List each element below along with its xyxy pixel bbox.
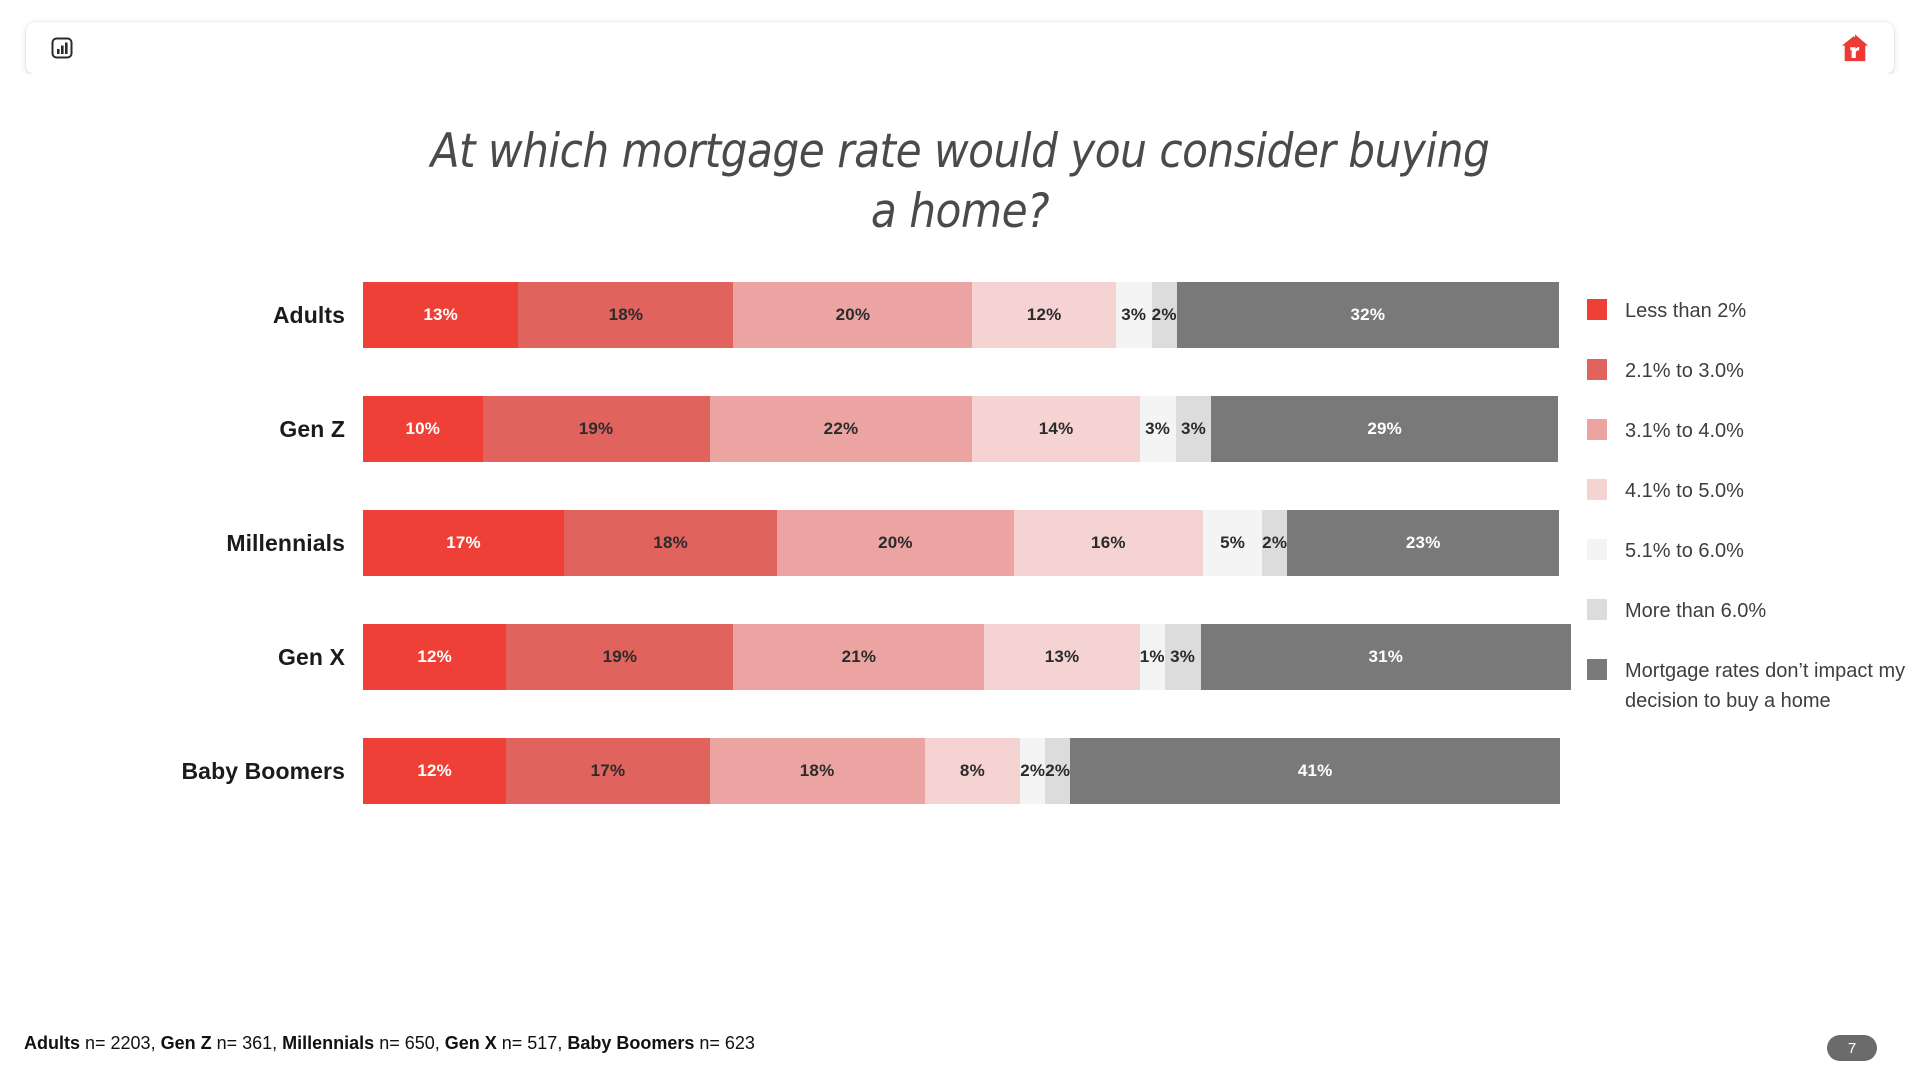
bar-segment-value: 2% [1262,533,1287,553]
bar-segment-value: 20% [836,305,871,325]
bar-segment[interactable]: 5% [1203,510,1262,576]
bar-segment-value: 3% [1145,419,1170,439]
bar-category-label: Gen X [60,624,345,690]
bar-category-label: Baby Boomers [60,738,345,804]
slide-canvas: At which mortgage rate would you conside… [0,74,1920,1081]
bar-segment-value: 2% [1152,305,1177,325]
bar-chart-icon[interactable] [50,36,74,60]
bar-segment[interactable]: 21% [733,624,984,690]
footnote-group-label: Baby Boomers [567,1033,694,1053]
bar-segment-value: 18% [609,305,644,325]
bar-segment[interactable]: 3% [1165,624,1201,690]
bar-segment[interactable]: 13% [984,624,1139,690]
bar-segment[interactable]: 13% [363,282,518,348]
footnote-group-label: Gen Z [161,1033,212,1053]
footnote-group-value: n= 517, [497,1033,568,1053]
legend-label: 2.1% to 3.0% [1625,356,1744,386]
bar-segment[interactable]: 3% [1116,282,1152,348]
bar-segment-value: 10% [405,419,440,439]
bar-segment-value: 12% [1027,305,1062,325]
bar-segment-value: 12% [417,647,452,667]
bar-track: 10%19%22%14%3%3%29% [363,396,1558,462]
bar-segment-value: 13% [423,305,458,325]
footnote-group-value: n= 623 [694,1033,755,1053]
bar-segment[interactable]: 12% [972,282,1115,348]
bar-segment[interactable]: 1% [1140,624,1165,690]
bar-segment-value: 31% [1368,647,1403,667]
bar-segment-value: 2% [1045,761,1070,781]
legend-label: 5.1% to 6.0% [1625,536,1744,566]
app-bar [26,22,1894,74]
bar-segment[interactable]: 29% [1211,396,1558,462]
bar-segment[interactable]: 32% [1177,282,1559,348]
footnote-group-value: n= 2203, [80,1033,161,1053]
bar-segment[interactable]: 17% [363,510,564,576]
bar-segment[interactable]: 2% [1020,738,1045,804]
legend-swatch-icon [1587,359,1607,380]
legend-item[interactable]: Less than 2% [1587,296,1917,326]
sample-size-footnote: Adults n= 2203, Gen Z n= 361, Millennial… [24,1033,755,1054]
bar-segment[interactable]: 14% [972,396,1139,462]
footnote-group-label: Adults [24,1033,80,1053]
bar-track: 13%18%20%12%3%2%32% [363,282,1558,348]
bar-category-label: Gen Z [60,396,345,462]
bar-row: Baby Boomers12%17%18%8%2%2%41% [0,738,1920,804]
bar-segment-value: 29% [1367,419,1402,439]
legend-item[interactable]: Mortgage rates don’t impact my decision … [1587,656,1917,716]
bar-category-label: Adults [60,282,345,348]
footnote-group-value: n= 361, [212,1033,283,1053]
footnote-group-label: Millennials [282,1033,374,1053]
legend-swatch-icon [1587,539,1607,560]
legend-label: 3.1% to 4.0% [1625,416,1744,446]
legend-item[interactable]: More than 6.0% [1587,596,1917,626]
chart-legend: Less than 2%2.1% to 3.0%3.1% to 4.0%4.1%… [1587,296,1917,746]
realtor-house-logo [1840,33,1870,63]
bar-segment-value: 17% [446,533,481,553]
bar-segment-value: 19% [579,419,614,439]
bar-segment-value: 17% [591,761,626,781]
bar-segment[interactable]: 20% [733,282,972,348]
legend-item[interactable]: 4.1% to 5.0% [1587,476,1917,506]
legend-label: Less than 2% [1625,296,1746,326]
bar-segment[interactable]: 20% [777,510,1014,576]
bar-segment-value: 18% [653,533,688,553]
bar-segment[interactable]: 19% [506,624,733,690]
bar-segment-value: 3% [1181,419,1206,439]
bar-segment-value: 2% [1020,761,1045,781]
bar-segment-value: 41% [1298,761,1333,781]
bar-segment[interactable]: 18% [518,282,733,348]
page-title-line-2: a home? [300,182,1620,242]
bar-segment[interactable]: 3% [1140,396,1176,462]
bar-segment[interactable]: 8% [925,738,1021,804]
footnote-group-label: Gen X [445,1033,497,1053]
bar-segment-value: 19% [603,647,638,667]
bar-segment[interactable]: 22% [710,396,973,462]
bar-segment[interactable]: 12% [363,738,506,804]
bar-track: 12%17%18%8%2%2%41% [363,738,1558,804]
legend-item[interactable]: 3.1% to 4.0% [1587,416,1917,446]
brand-logo-wrapper[interactable] [1840,33,1870,63]
bar-segment-value: 12% [417,761,452,781]
bar-segment-value: 14% [1039,419,1074,439]
legend-item[interactable]: 2.1% to 3.0% [1587,356,1917,386]
legend-swatch-icon [1587,659,1607,680]
bar-segment-value: 3% [1170,647,1195,667]
bar-segment[interactable]: 17% [506,738,709,804]
bar-segment-value: 21% [842,647,877,667]
bar-segment[interactable]: 2% [1045,738,1070,804]
bar-segment-value: 1% [1140,647,1165,667]
bar-segment[interactable]: 2% [1152,282,1177,348]
bar-segment[interactable]: 16% [1014,510,1203,576]
legend-label: 4.1% to 5.0% [1625,476,1744,506]
bar-segment-value: 16% [1091,533,1126,553]
legend-label: Mortgage rates don’t impact my decision … [1625,656,1917,716]
bar-segment-value: 32% [1351,305,1386,325]
legend-label: More than 6.0% [1625,596,1766,626]
bar-segment[interactable]: 18% [564,510,777,576]
legend-swatch-icon [1587,299,1607,320]
bar-category-label: Millennials [60,510,345,576]
bar-segment[interactable]: 31% [1201,624,1571,690]
bar-segment-value: 8% [960,761,985,781]
bar-segment[interactable]: 41% [1070,738,1560,804]
bar-segment[interactable]: 12% [363,624,506,690]
bar-segment[interactable]: 10% [363,396,483,462]
bar-segment[interactable]: 18% [710,738,925,804]
bar-segment-value: 22% [824,419,859,439]
legend-swatch-icon [1587,419,1607,440]
bar-segment-value: 13% [1045,647,1080,667]
bar-segment-value: 18% [800,761,835,781]
page-number-badge: 7 [1827,1035,1877,1061]
bar-segment[interactable]: 2% [1262,510,1287,576]
page-title: At which mortgage rate would you conside… [300,122,1620,242]
bar-segment-value: 3% [1121,305,1146,325]
bar-track: 17%18%20%16%5%2%23% [363,510,1558,576]
legend-swatch-icon [1587,479,1607,500]
bar-segment-value: 5% [1220,533,1245,553]
footnote-group-value: n= 650, [374,1033,445,1053]
bar-track: 12%19%21%13%1%3%31% [363,624,1558,690]
legend-item[interactable]: 5.1% to 6.0% [1587,536,1917,566]
bar-segment-value: 20% [878,533,913,553]
bar-segment[interactable]: 23% [1287,510,1559,576]
bar-segment-value: 23% [1406,533,1441,553]
bar-segment[interactable]: 19% [483,396,710,462]
page-title-line-1: At which mortgage rate would you conside… [300,122,1620,182]
bar-segment[interactable]: 3% [1176,396,1212,462]
legend-swatch-icon [1587,599,1607,620]
